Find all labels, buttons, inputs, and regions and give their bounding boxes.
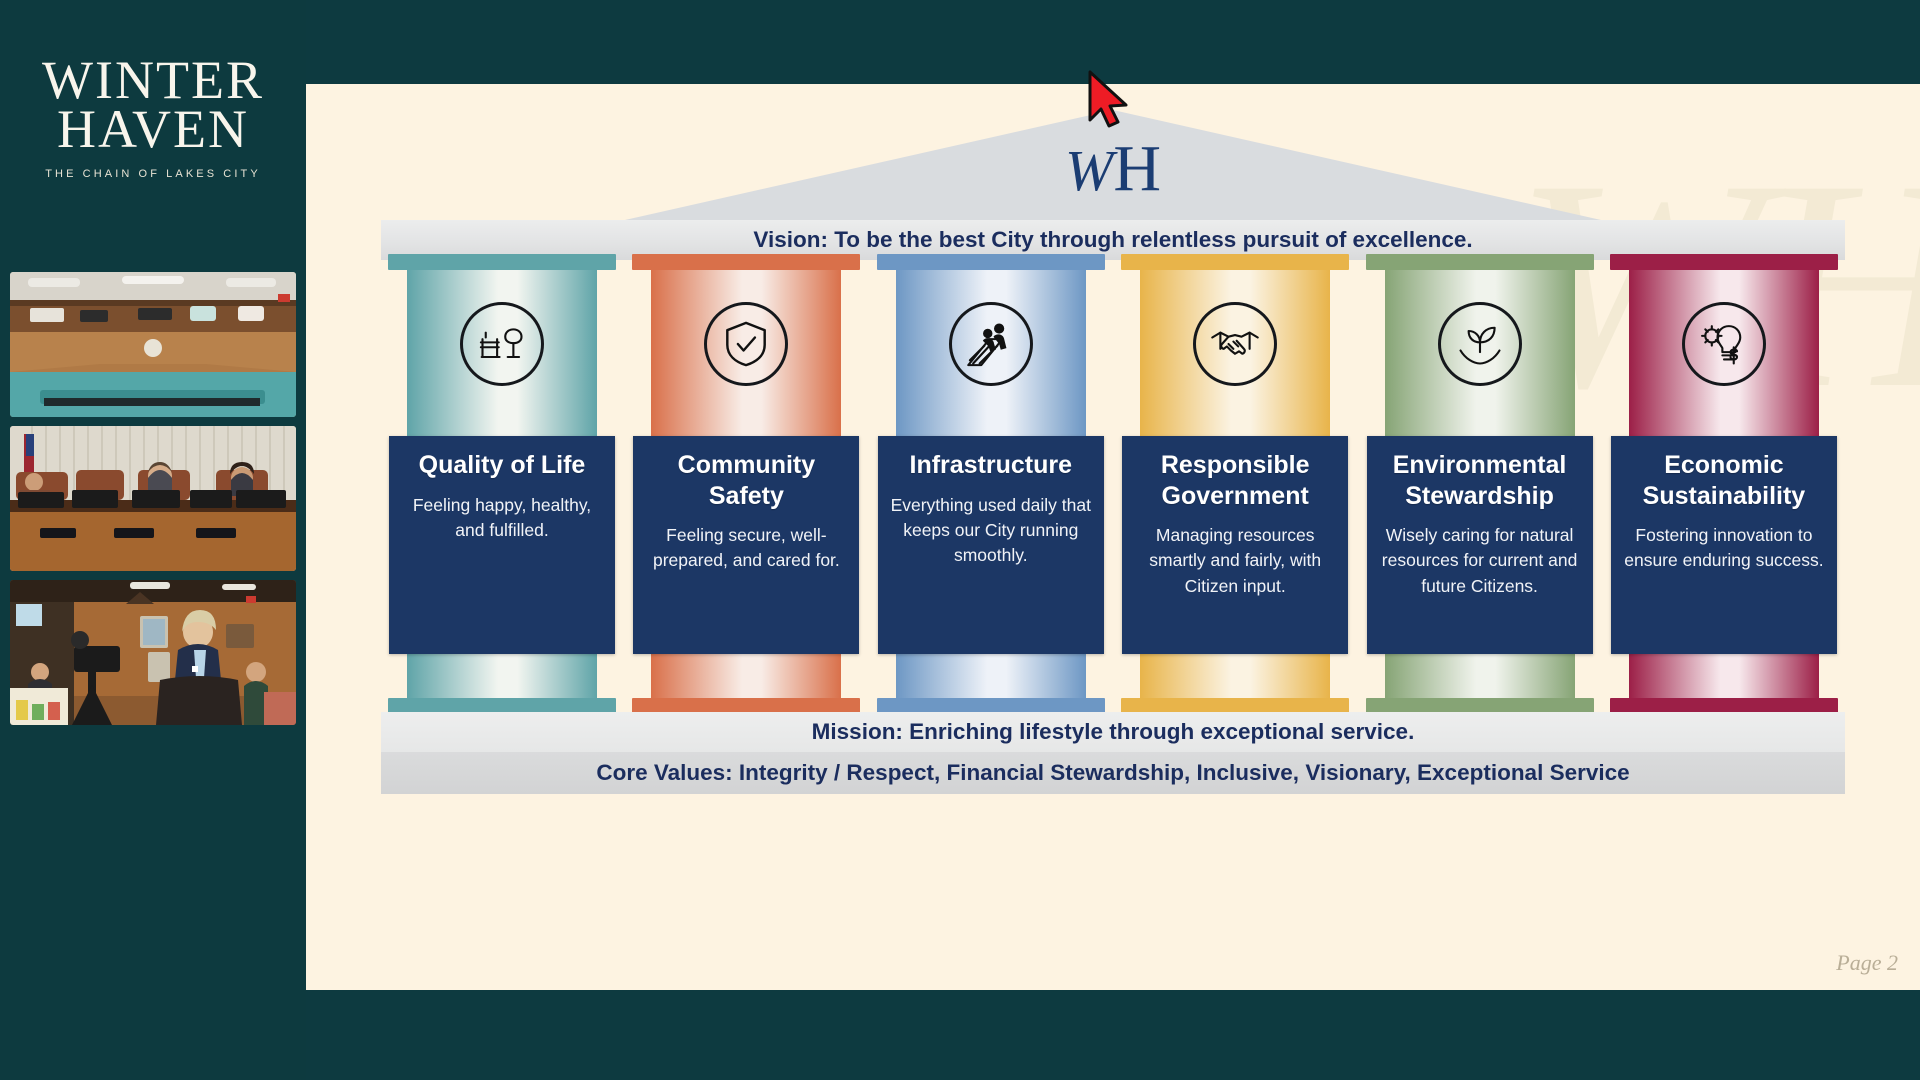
hand-leaf-icon [1438,302,1522,386]
pillar-title: Quality of Life [399,450,605,481]
core-values-text: Core Values: Integrity / Respect, Financ… [596,760,1629,786]
pillar-5: Environmental StewardshipWisely caring f… [1366,254,1594,714]
pillar-icon-wrap [1366,302,1594,386]
page-number: Page 2 [1836,950,1898,976]
pillar-icon-wrap [1121,302,1349,386]
pillar-card: Economic SustainabilityFostering innovat… [1611,436,1837,654]
pillar-card: Community SafetyFeeling secure, well-pre… [633,436,859,654]
pillar-title: Responsible Government [1132,450,1338,511]
thumbnail-council-dais[interactable] [10,426,296,571]
sidebar: WINTER HAVEN THE CHAIN OF LAKES CITY [0,0,306,1080]
core-values-bar: Core Values: Integrity / Respect, Financ… [381,752,1845,794]
pillar-1: Quality of LifeFeeling happy, healthy, a… [388,254,616,714]
pillar-card: Environmental StewardshipWisely caring f… [1367,436,1593,654]
thumbnail-council-chamber-wide[interactable] [10,272,296,417]
pillar-description: Everything used daily that keeps our Cit… [888,493,1094,569]
pillar-icon-wrap [877,302,1105,386]
monogram-w: W [1065,138,1113,203]
pillar-description: Feeling secure, well-prepared, and cared… [643,523,849,574]
monogram-h: H [1113,132,1161,205]
pillar-2: Community SafetyFeeling secure, well-pre… [632,254,860,714]
meeting-viewer: WINTER HAVEN THE CHAIN OF LAKES CITY [0,0,1920,1080]
pillar-4: Responsible GovernmentManaging resources… [1121,254,1349,714]
thumbnail-speaker-podium[interactable] [10,580,296,725]
pillar-description: Feeling happy, healthy, and fulfilled. [399,493,605,544]
pillar-capital-top [1121,254,1349,270]
brand-tagline: THE CHAIN OF LAKES CITY [45,168,261,180]
shield-check-icon [704,302,788,386]
pillar-title: Environmental Stewardship [1377,450,1583,511]
pillar-card: Responsible GovernmentManaging resources… [1122,436,1348,654]
pillar-3: InfrastructureEverything used daily that… [877,254,1105,714]
pillar-icon-wrap [388,302,616,386]
pillar-icon-wrap [632,302,860,386]
pillar-capital-top [1610,254,1838,270]
pillar-capital-top [388,254,616,270]
pillar-title: Economic Sustainability [1621,450,1827,511]
pillars-row: Quality of LifeFeeling happy, healthy, a… [388,254,1838,714]
pillar-description: Wisely caring for natural resources for … [1377,523,1583,599]
pillar-title: Infrastructure [888,450,1094,481]
pillar-capital-top [632,254,860,270]
pillar-card: Quality of LifeFeeling happy, healthy, a… [389,436,615,654]
pillar-capital-top [1366,254,1594,270]
winter-haven-logo: WINTER HAVEN THE CHAIN OF LAKES CITY [0,30,306,205]
park-bench-tree-icon [460,302,544,386]
pillar-description: Fostering innovation to ensure enduring … [1621,523,1827,574]
camera-thumbnail-list [10,272,296,734]
mission-bar: Mission: Enriching lifestyle through exc… [381,712,1845,752]
wh-monogram: WH [1065,136,1161,202]
presentation-slide: WH WH Vision: To be the best City throug… [306,84,1920,990]
handshake-icon [1193,302,1277,386]
vision-text: Vision: To be the best City through rele… [753,227,1472,253]
pillar-6: Economic SustainabilityFostering innovat… [1610,254,1838,714]
pillar-description: Managing resources smartly and fairly, w… [1132,523,1338,599]
lightbulb-gear-dollar-icon [1682,302,1766,386]
pillar-icon-wrap [1610,302,1838,386]
mission-text: Mission: Enriching lifestyle through exc… [812,719,1415,745]
road-people-icon [949,302,1033,386]
brand-line-2: HAVEN [57,102,249,156]
pillar-capital-top [877,254,1105,270]
pillar-title: Community Safety [643,450,849,511]
pillar-card: InfrastructureEverything used daily that… [878,436,1104,654]
